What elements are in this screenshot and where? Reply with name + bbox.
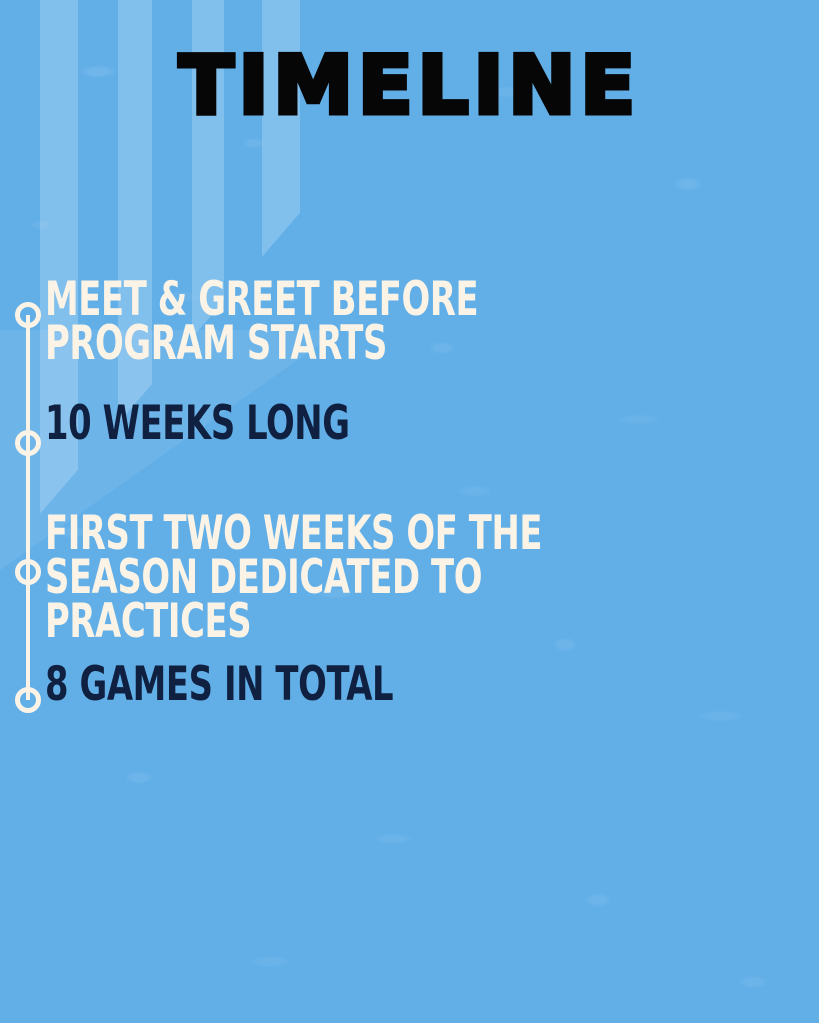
hollow-circle-icon: [15, 687, 41, 713]
hollow-circle-icon: [15, 302, 41, 328]
timeline-rail: [26, 315, 30, 700]
timeline-poster: TIMELINE MEET & GREET BEFORE PROGRAM STA…: [0, 0, 819, 1023]
timeline-item-label: 8 GAMES IN TOTAL: [45, 663, 653, 707]
timeline-item-label: MEET & GREET BEFORE PROGRAM STARTS: [45, 278, 653, 366]
page-title: TIMELINE: [0, 46, 819, 126]
timeline-item-label: 10 WEEKS LONG: [45, 402, 653, 446]
hollow-circle-icon: [15, 559, 41, 585]
timeline-item-label: FIRST TWO WEEKS OF THE SEASON DEDICATED …: [45, 512, 653, 645]
hollow-circle-icon: [15, 430, 41, 456]
timeline-list: MEET & GREET BEFORE PROGRAM STARTS 10 WE…: [0, 290, 819, 750]
